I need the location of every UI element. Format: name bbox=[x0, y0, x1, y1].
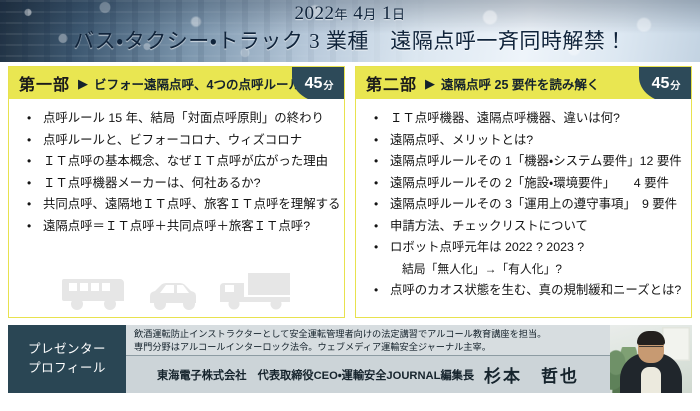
header-date-day: 1 bbox=[382, 3, 392, 24]
header-date-day-unit: 日 bbox=[392, 7, 406, 22]
photo-person-hair bbox=[637, 331, 665, 345]
list-item: ＩＴ点呼の基本概念、なぜＩＴ点呼が広がった理由 bbox=[25, 151, 338, 173]
list-item: 共同点呼、遠隔地ＩＴ点呼、旅客ＩＴ点呼を理解する bbox=[25, 194, 338, 216]
photo-person-shirt bbox=[641, 367, 661, 393]
profile-bio-line-2: 専門分野はアルコールインターロック法令。ウェブメディア運輸安全ジャーナル主宰。 bbox=[134, 341, 604, 354]
list-item-sub: 結局「無人化」→「有人化」? bbox=[372, 259, 685, 281]
panel-1-duration-number: 45 bbox=[305, 75, 323, 93]
panel-1-subtitle: ビフォー遠隔点呼、4つの点呼ルール bbox=[94, 74, 301, 93]
panel-2-subtitle: 遠隔点呼 25 要件を読み解く bbox=[441, 74, 599, 93]
vehicle-illustrations bbox=[9, 271, 344, 311]
profile-presenter-name: 杉本 哲也 bbox=[484, 362, 579, 387]
panel-2-duration-number: 45 bbox=[652, 75, 670, 93]
header-date-year: 2022 bbox=[294, 3, 334, 24]
slide-root: 2022年 4月 1日 バス・タクシー・トラック 3 業種 遠隔点呼一斉同時解禁… bbox=[0, 0, 700, 411]
profile-label-box: プレゼンター プロフィール bbox=[8, 325, 126, 393]
profile-label-line-1: プレゼンター bbox=[28, 340, 106, 359]
panel-1-part-label: 第一部 bbox=[19, 71, 70, 95]
list-item: ＩＴ点呼機器、遠隔点呼機器、違いは何? bbox=[372, 108, 685, 130]
profile-company-title: 東海電子株式会社 代表取締役CEO・運輸安全JOURNAL編集長 bbox=[157, 367, 474, 383]
car-icon bbox=[144, 277, 206, 311]
header-date-line: 2022年 4月 1日 bbox=[0, 2, 700, 27]
list-item: 遠隔点呼ルールその 2「施設・環境要件」 4 要件 bbox=[372, 173, 685, 195]
header-headline: バス・タクシー・トラック 3 業種 遠隔点呼一斉同時解禁！ bbox=[0, 27, 700, 55]
list-item: 点呼ルールと、ビフォーコロナ、ウィズコロナ bbox=[25, 130, 338, 152]
list-item: 遠隔点呼ルールその 1「機器・システム要件」12 要件 bbox=[372, 151, 685, 173]
panel-2-duration-unit: 分 bbox=[670, 77, 680, 92]
list-item: ＩＴ点呼機器メーカーは、何社あるか? bbox=[25, 173, 338, 195]
profile-bio: 飲酒運転防止インストラクターとして安全運転管理者向けの法定講習でアルコール教育講… bbox=[126, 325, 610, 355]
slide-header: 2022年 4月 1日 バス・タクシー・トラック 3 業種 遠隔点呼一斉同時解禁… bbox=[0, 0, 700, 62]
panel-1-header: 第一部 ▶ ビフォー遠隔点呼、4つの点呼ルール 45 分 bbox=[9, 67, 344, 99]
truck-icon bbox=[220, 271, 292, 311]
list-item: 点呼ルール 15 年、結局「対面点呼原則」の終わり bbox=[25, 108, 338, 130]
profile-label-line-2: プロフィール bbox=[28, 359, 106, 378]
triangle-right-icon: ▶ bbox=[425, 77, 435, 90]
header-date-month: 4 bbox=[353, 3, 363, 24]
header-text-block: 2022年 4月 1日 バス・タクシー・トラック 3 業種 遠隔点呼一斉同時解禁… bbox=[0, 2, 700, 55]
list-item: 点呼のカオス状態を生む、真の規制緩和ニーズとは? bbox=[372, 280, 685, 302]
profile-body: 飲酒運転防止インストラクターとして安全運転管理者向けの法定講習でアルコール教育講… bbox=[126, 325, 610, 393]
triangle-right-icon: ▶ bbox=[78, 77, 88, 90]
header-date-year-unit: 年 bbox=[334, 7, 348, 22]
list-item: 遠隔点呼、メリットとは? bbox=[372, 130, 685, 152]
panel-2-bullet-list: ＩＴ点呼機器、遠隔点呼機器、違いは何? 遠隔点呼、メリットとは? 遠隔点呼ルール… bbox=[356, 99, 691, 302]
list-item: 遠隔点呼＝ＩＴ点呼＋共同点呼＋旅客ＩＴ点呼? bbox=[25, 216, 338, 238]
panel-2-duration-badge: 45 分 bbox=[639, 67, 691, 99]
bus-icon bbox=[62, 275, 130, 311]
panel-2-header: 第二部 ▶ 遠隔点呼 25 要件を読み解く 45 分 bbox=[356, 67, 691, 99]
panels-container: 第一部 ▶ ビフォー遠隔点呼、4つの点呼ルール 45 分 点呼ルール 15 年、… bbox=[0, 66, 700, 318]
profile-name-row: 東海電子株式会社 代表取締役CEO・運輸安全JOURNAL編集長 杉本 哲也 bbox=[126, 355, 610, 393]
presenter-photo bbox=[610, 325, 692, 393]
panel-1-duration-unit: 分 bbox=[323, 77, 333, 92]
profile-bio-line-1: 飲酒運転防止インストラクターとして安全運転管理者向けの法定講習でアルコール教育講… bbox=[134, 328, 604, 341]
panel-2-part-label: 第二部 bbox=[366, 71, 417, 95]
header-date-month-unit: 月 bbox=[363, 7, 377, 22]
panel-part-2: 第二部 ▶ 遠隔点呼 25 要件を読み解く 45 分 ＩＴ点呼機器、遠隔点呼機器… bbox=[355, 66, 692, 318]
panel-1-duration-badge: 45 分 bbox=[292, 67, 344, 99]
list-item: ロボット点呼元年は 2022 ? 2023 ? bbox=[372, 237, 685, 259]
presenter-profile-section: プレゼンター プロフィール 飲酒運転防止インストラクターとして安全運転管理者向け… bbox=[8, 325, 692, 393]
panel-1-bullet-list: 点呼ルール 15 年、結局「対面点呼原則」の終わり 点呼ルールと、ビフォーコロナ… bbox=[9, 99, 344, 237]
list-item: 遠隔点呼ルールその 3「運用上の遵守事項」 9 要件 bbox=[372, 194, 685, 216]
panel-part-1: 第一部 ▶ ビフォー遠隔点呼、4つの点呼ルール 45 分 点呼ルール 15 年、… bbox=[8, 66, 345, 318]
list-item: 申請方法、チェックリストについて bbox=[372, 216, 685, 238]
